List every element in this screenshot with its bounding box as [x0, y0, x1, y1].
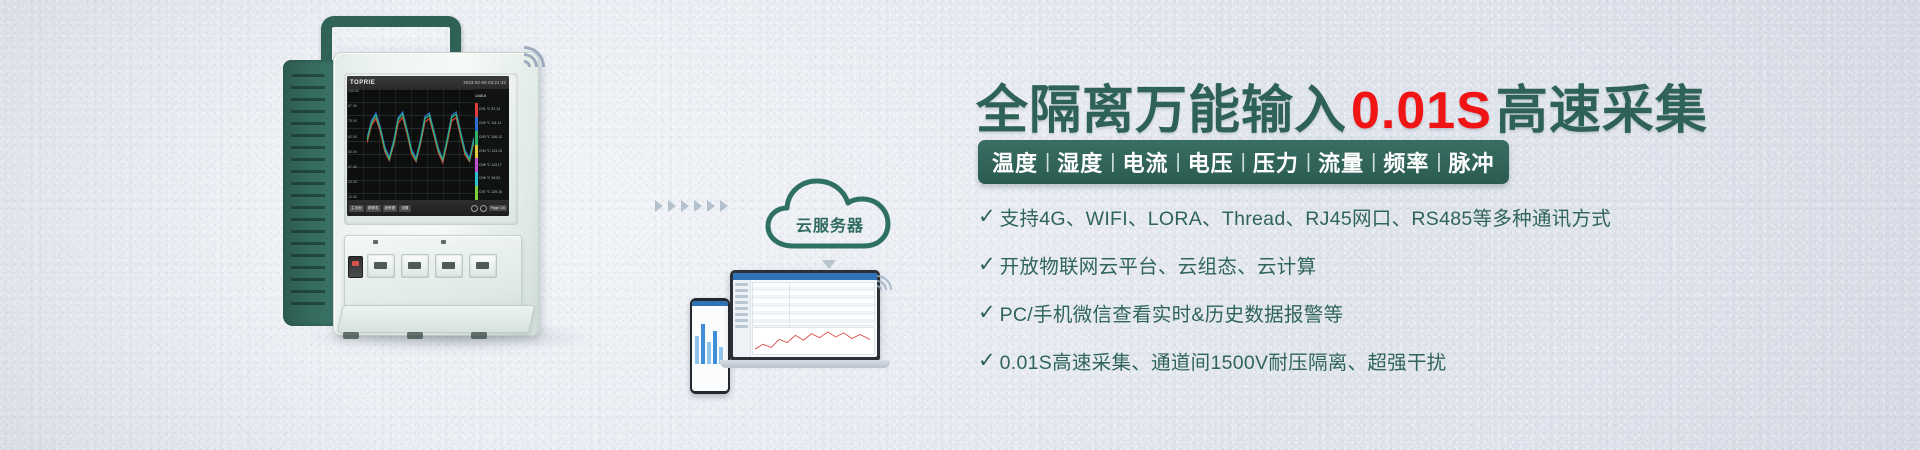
measurement-tag[interactable]: 压力 — [1253, 146, 1299, 178]
screen-bezel: TOPRIE 2023-02-06 03:21:32 100.0087.5075… — [344, 73, 518, 225]
channel-label: CH1 ℃ 87.13 — [479, 108, 500, 112]
channel-label: CH2 ℃ 111.12 — [479, 122, 501, 126]
measurement-tag[interactable]: 频率 — [1383, 146, 1429, 178]
screen-button-bar: 主页面报警表趋势图设置Page 1/6 — [347, 200, 509, 216]
arrow-icon — [655, 200, 663, 212]
y-axis-tick: 100.00 — [348, 90, 367, 94]
terminal-block — [469, 254, 497, 278]
screen-brand-logo: TOPRIE — [350, 80, 375, 86]
feature-bullet: ✓开放物联网云平台、云组态、云计算 — [978, 246, 1878, 283]
sidebar-row — [735, 319, 748, 322]
sidebar-row — [735, 325, 748, 328]
device-vents — [291, 74, 325, 312]
marketing-copy: 全隔离万能输入0.01S高速采集 温度|湿度|电流|电压|压力|流量|频率|脉冲… — [958, 0, 1920, 450]
feature-bullet-list: ✓支持4G、WIFI、LORA、Thread、RJ45网口、RS485等多种通讯… — [978, 198, 1878, 390]
y-axis-tick: 50.00 — [348, 151, 367, 155]
device-foot — [471, 332, 487, 339]
screen-button[interactable]: 报警表 — [366, 205, 381, 212]
arrow-icon — [668, 200, 676, 212]
channel-row: CH2 ℃ 111.12 — [474, 117, 509, 131]
software-trend-chart — [752, 327, 875, 355]
wifi-signal-icon — [495, 30, 547, 76]
headline-highlight: 0.01S — [1347, 82, 1496, 140]
channel-label: CH3 ℃ 106.12 — [479, 136, 502, 140]
check-icon: ✓ — [978, 302, 996, 323]
tag-separator: | — [1429, 151, 1448, 174]
promo-banner: TOPRIE 2023-02-06 03:21:32 100.0087.5075… — [0, 0, 1920, 450]
arrow-icon — [694, 200, 702, 212]
measurement-tag[interactable]: 电压 — [1188, 146, 1234, 178]
channel-color-swatch — [475, 131, 478, 145]
screw — [373, 240, 378, 244]
phone-mockup — [690, 298, 730, 394]
feature-bullet: ✓0.01S高速采集、通道间1500V耐压隔离、超强干扰 — [978, 342, 1878, 379]
channel-color-swatch — [475, 145, 478, 159]
channel-row: CH5 ℃ 113.17 — [474, 158, 509, 172]
screen-button[interactable]: 趋势图 — [383, 205, 398, 212]
phone-chart — [692, 306, 728, 368]
device-feet — [343, 332, 493, 340]
measurement-tag[interactable]: 湿度 — [1057, 146, 1103, 178]
screen-titlebar: TOPRIE 2023-02-06 03:21:32 — [347, 76, 509, 89]
sidebar-row — [735, 307, 748, 310]
product-stage: TOPRIE 2023-02-06 03:21:32 100.0087.5075… — [0, 0, 800, 450]
arrow-icon — [681, 200, 689, 212]
sidebar-row — [735, 289, 748, 292]
software-sidebar — [733, 280, 751, 357]
device-front-panel: TOPRIE 2023-02-06 03:21:32 100.0087.5075… — [333, 52, 539, 336]
client-devices-graphic — [690, 270, 910, 400]
channel-row: CH1 ℃ 87.13 — [474, 103, 509, 117]
circle-icon[interactable] — [480, 205, 487, 212]
software-chart-svg — [753, 328, 874, 354]
y-axis-tick: 62.50 — [348, 136, 367, 140]
software-titlebar — [733, 273, 877, 280]
check-icon: ✓ — [978, 254, 996, 275]
y-axis-tick: 25.00 — [348, 181, 367, 185]
channel-row: CH3 ℃ 106.12 — [474, 131, 509, 145]
panel-cover-flap — [337, 305, 535, 333]
software-data-table — [752, 282, 875, 326]
feature-bullet-text: 0.01S高速采集、通道间1500V耐压隔离、超强干扰 — [1000, 346, 1447, 375]
channel-color-swatch — [475, 186, 478, 200]
measurement-tag[interactable]: 流量 — [1318, 146, 1364, 178]
laptop-base — [720, 360, 890, 368]
feature-bullet-text: 支持4G、WIFI、LORA、Thread、RJ45网口、RS485等多种通讯方… — [1000, 202, 1612, 231]
plot-waveforms — [367, 90, 474, 200]
terminal-block — [435, 254, 463, 278]
laptop-screen — [733, 273, 877, 357]
measurement-tags-pill: 温度|湿度|电流|电压|压力|流量|频率|脉冲 — [978, 140, 1509, 184]
tag-separator: | — [1364, 151, 1383, 174]
channel-label: CH7 ℃ 129.15 — [479, 191, 502, 195]
channel-color-swatch — [475, 172, 478, 186]
headline-part1: 全隔离万能输入 — [976, 82, 1347, 140]
channel-status-row: 1448.8 — [474, 89, 509, 103]
cloud-down-arrow-icon — [822, 260, 836, 269]
screen-button[interactable]: 设置 — [399, 205, 410, 212]
channel-row: CH6 ℃ 94.03 — [474, 172, 509, 186]
tag-separator: | — [1103, 151, 1122, 174]
waveform-svg — [367, 90, 474, 200]
sidebar-row — [735, 283, 748, 286]
measurement-tag[interactable]: 温度 — [992, 146, 1038, 178]
screen-icon-group — [471, 205, 487, 212]
channel-color-swatch — [475, 117, 478, 131]
device-screen: TOPRIE 2023-02-06 03:21:32 100.0087.5075… — [347, 76, 509, 216]
channel-color-swatch — [475, 103, 478, 117]
cloud-server-label: 云服务器 — [760, 212, 900, 236]
terminal-block — [401, 254, 429, 278]
channel-label: CH4 ℃ 123.13 — [479, 150, 502, 154]
y-axis-tick: 37.50 — [348, 166, 367, 170]
measurement-tag[interactable]: 脉冲 — [1449, 146, 1495, 178]
screen-button[interactable]: 主页面 — [349, 205, 364, 212]
terminal-block — [367, 254, 395, 278]
sidebar-row — [735, 301, 748, 304]
device-foot — [343, 332, 359, 339]
channel-label: CH5 ℃ 113.17 — [479, 164, 502, 168]
circle-icon[interactable] — [471, 205, 478, 212]
device-foot — [407, 332, 423, 339]
arrow-icon — [707, 200, 715, 212]
channel-row: CH4 ℃ 123.13 — [474, 145, 509, 159]
channel-label: CH6 ℃ 94.03 — [479, 177, 500, 181]
screen-page-indicator: Page 1/6 — [489, 205, 507, 211]
channel-color-swatch — [475, 158, 478, 172]
arrow-icon — [720, 200, 728, 212]
headline: 全隔离万能输入0.01S高速采集 — [976, 68, 1708, 143]
status-value: 1448.8 — [475, 94, 486, 98]
feature-bullet-text: PC/手机微信查看实时&历史数据报警等 — [1000, 298, 1344, 327]
screen-channel-list: 1448.8CH1 ℃ 87.13CH2 ℃ 111.12CH3 ℃ 106.1… — [474, 89, 509, 200]
channel-row: CH7 ℃ 129.15 — [474, 186, 509, 200]
sidebar-row — [735, 295, 748, 298]
tag-separator: | — [1234, 151, 1253, 174]
plot-y-axis: 100.0087.5075.0062.5050.0037.5025.0012.5… — [348, 90, 367, 200]
screw — [441, 240, 446, 244]
cloud-server-graphic: 云服务器 — [760, 172, 900, 267]
power-switch[interactable] — [348, 256, 363, 278]
headline-part2: 高速采集 — [1496, 82, 1708, 140]
sidebar-row — [735, 313, 748, 316]
y-axis-tick: 75.00 — [348, 120, 367, 124]
feature-bullet: ✓PC/手机微信查看实时&历史数据报警等 — [978, 294, 1878, 331]
check-icon: ✓ — [978, 350, 996, 371]
tag-separator: | — [1038, 151, 1057, 174]
phone-screen — [692, 301, 728, 391]
flow-arrows — [655, 200, 728, 212]
panel-screws — [345, 240, 521, 246]
tag-separator: | — [1299, 151, 1318, 174]
measurement-tag[interactable]: 电流 — [1122, 146, 1168, 178]
feature-bullet: ✓支持4G、WIFI、LORA、Thread、RJ45网口、RS485等多种通讯… — [978, 198, 1878, 235]
feature-bullet-text: 开放物联网云平台、云组态、云计算 — [1000, 250, 1317, 279]
tag-separator: | — [1168, 151, 1187, 174]
check-icon: ✓ — [978, 206, 996, 227]
y-axis-tick: 87.50 — [348, 105, 367, 109]
screen-timestamp: 2023-02-06 03:21:32 — [463, 80, 506, 85]
wifi-signal-icon-2 — [858, 266, 892, 296]
paperless-recorder-device: TOPRIE 2023-02-06 03:21:32 100.0087.5075… — [283, 16, 537, 328]
